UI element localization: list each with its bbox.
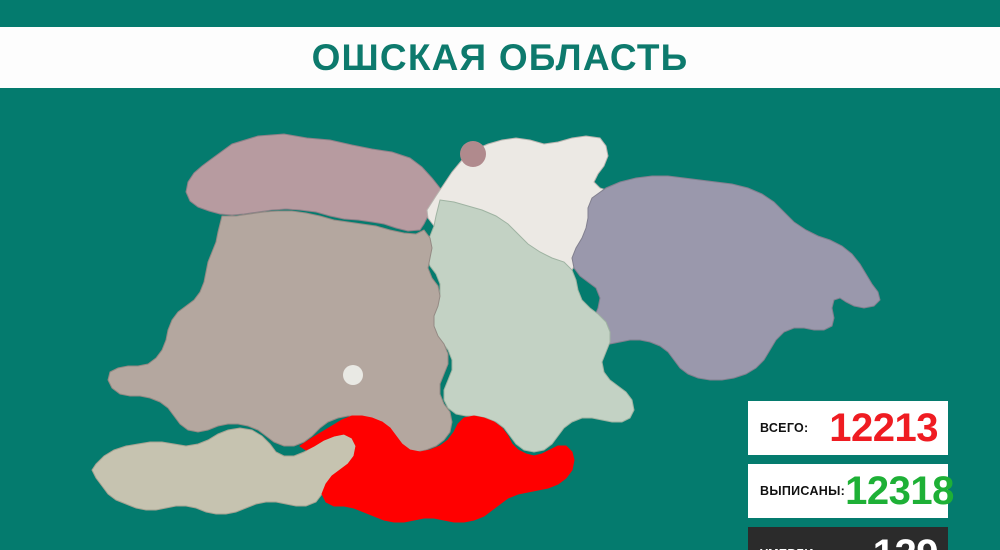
stat-row-total: ВСЕГО: 12213	[748, 401, 948, 455]
map-stage: ВСЕГО: 12213 ВЫПИСАНЫ: 12318 УМЕРЛИ: 129	[0, 88, 1000, 550]
stat-label-total: ВСЕГО:	[760, 421, 809, 435]
stat-row-recovered: ВЫПИСАНЫ: 12318	[748, 464, 948, 518]
map-marker-bishkek[interactable]	[460, 141, 486, 167]
stat-value-died: 129	[873, 534, 938, 550]
stat-row-died: УМЕРЛИ: 129	[748, 527, 948, 550]
stat-label-recovered: ВЫПИСАНЫ:	[760, 484, 845, 498]
map-region-issykkul[interactable]	[572, 176, 880, 380]
title-band: ОШСКАЯ ОБЛАСТЬ	[0, 27, 1000, 88]
infographic-screen: ОШСКАЯ ОБЛАСТЬ ВСЕГО:	[0, 0, 1000, 550]
stat-value-total: 12213	[829, 408, 938, 448]
stat-value-recovered: 12318	[845, 471, 954, 511]
stats-panel: ВСЕГО: 12213 ВЫПИСАНЫ: 12318 УМЕРЛИ: 129	[748, 401, 948, 550]
page-title: ОШСКАЯ ОБЛАСТЬ	[312, 39, 689, 76]
map-region-jalalabad[interactable]	[108, 211, 452, 452]
map-marker-osh-city[interactable]	[343, 365, 363, 385]
top-accent-strip	[0, 0, 1000, 27]
